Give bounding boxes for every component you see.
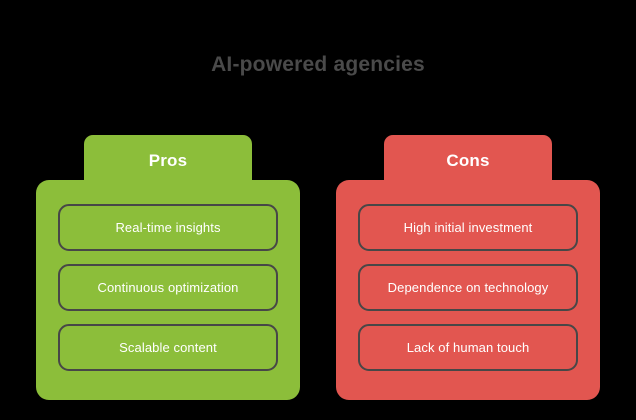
- list-item-label: Dependence on technology: [388, 280, 549, 296]
- list-item[interactable]: Real-time insights: [58, 204, 278, 251]
- list-item-label: Lack of human touch: [407, 340, 530, 356]
- pros-header-label: Pros: [149, 151, 188, 171]
- pros-column: Pros Real-time insights Continuous optim…: [36, 135, 300, 400]
- list-item-label: Scalable content: [119, 340, 217, 356]
- list-item[interactable]: Dependence on technology: [358, 264, 578, 311]
- list-item[interactable]: High initial investment: [358, 204, 578, 251]
- cons-column: Cons High initial investment Dependence …: [336, 135, 600, 400]
- slide-canvas: AI-powered agencies Pros Real-time insig…: [0, 0, 636, 420]
- cons-panel: High initial investment Dependence on te…: [336, 180, 600, 400]
- list-item[interactable]: Scalable content: [58, 324, 278, 371]
- pros-panel: Real-time insights Continuous optimizati…: [36, 180, 300, 400]
- list-item-label: Continuous optimization: [97, 280, 238, 296]
- list-item-label: Real-time insights: [115, 220, 220, 236]
- page-title: AI-powered agencies: [0, 52, 636, 78]
- list-item[interactable]: Continuous optimization: [58, 264, 278, 311]
- list-item-label: High initial investment: [404, 220, 533, 236]
- cons-header-label: Cons: [446, 151, 489, 171]
- list-item[interactable]: Lack of human touch: [358, 324, 578, 371]
